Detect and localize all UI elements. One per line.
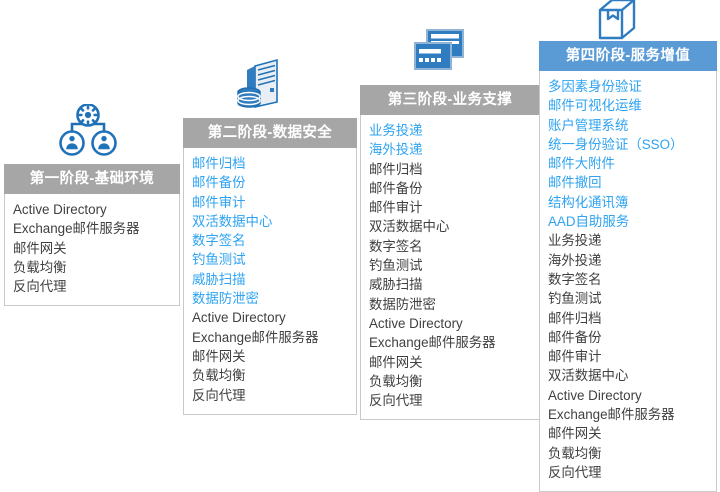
- stage-item: 负载均衡: [548, 444, 708, 463]
- stage-item: Active Directory: [192, 308, 348, 327]
- stage-item: 账户管理系统: [548, 116, 708, 135]
- stage-item: 海外投递: [548, 251, 708, 270]
- stage-panel-2: 第二阶段-数据安全 邮件归档邮件备份邮件审计双活数据中心数字签名钓鱼测试威胁扫描…: [183, 118, 357, 415]
- stage-item: 邮件审计: [369, 198, 531, 217]
- stage-item: 邮件归档: [369, 160, 531, 179]
- stage-item: 业务投递: [548, 231, 708, 250]
- stage-item: 海外投递: [369, 140, 531, 159]
- stage-item: 邮件网关: [13, 239, 171, 258]
- stage-item: 反向代理: [192, 386, 348, 405]
- stage-item: 数字签名: [192, 231, 348, 250]
- stage-item: Exchange邮件服务器: [13, 219, 171, 238]
- stage-item: 邮件网关: [369, 353, 531, 372]
- stage-item: Active Directory: [369, 314, 531, 333]
- org-hierarchy-gear-icon: [0, 104, 176, 156]
- stage-item-list-1: Active DirectoryExchange邮件服务器邮件网关负载均衡反向代…: [13, 200, 171, 296]
- stage-item: 负载均衡: [369, 372, 531, 391]
- stage-item: Exchange邮件服务器: [192, 328, 348, 347]
- stage-item: 邮件备份: [548, 328, 708, 347]
- stage-header-4: 第四阶段-服务增值: [539, 41, 717, 71]
- stage-body-1: Active DirectoryExchange邮件服务器邮件网关负载均衡反向代…: [4, 194, 180, 306]
- stage-item: 双活数据中心: [548, 366, 708, 385]
- stage-item: 邮件撤回: [548, 173, 708, 192]
- stage-item: Active Directory: [13, 200, 171, 219]
- stage-item: 邮件大附件: [548, 154, 708, 173]
- stage-item-list-3: 业务投递海外投递邮件归档邮件备份邮件审计双活数据中心数字签名钓鱼测试威胁扫描数据…: [369, 121, 531, 410]
- server-database-icon: [176, 58, 352, 110]
- stacked-windows-icon: [352, 20, 528, 76]
- stage-item: Exchange邮件服务器: [369, 333, 531, 352]
- stage-header-1: 第一阶段-基础环境: [4, 164, 180, 194]
- stage-item: 负载均衡: [192, 366, 348, 385]
- stage-item: 反向代理: [369, 391, 531, 410]
- roadmap-diagram: 第一阶段-基础环境 Active DirectoryExchange邮件服务器邮…: [0, 0, 720, 422]
- stage-item: 邮件归档: [192, 154, 348, 173]
- stage-item: 统一身份验证（SSO）: [548, 135, 708, 154]
- stage-item: 数字签名: [369, 237, 531, 256]
- stage-item: 威胁扫描: [192, 270, 348, 289]
- stage-item-list-4: 多因素身份验证邮件可视化运维账户管理系统统一身份验证（SSO）邮件大附件邮件撤回…: [548, 77, 708, 482]
- stage-item: Exchange邮件服务器: [548, 405, 708, 424]
- stage-header-2: 第二阶段-数据安全: [183, 118, 357, 148]
- stage-body-4: 多因素身份验证邮件可视化运维账户管理系统统一身份验证（SSO）邮件大附件邮件撤回…: [539, 71, 717, 492]
- stage-item: 邮件网关: [192, 347, 348, 366]
- stage-item: 反向代理: [548, 463, 708, 482]
- stage-item: 邮件审计: [548, 347, 708, 366]
- stage-item: 威胁扫描: [369, 275, 531, 294]
- stage-body-2: 邮件归档邮件备份邮件审计双活数据中心数字签名钓鱼测试威胁扫描数据防泄密Activ…: [183, 148, 357, 415]
- stage-header-3: 第三阶段-业务支撑: [360, 85, 540, 115]
- stage-item: 多因素身份验证: [548, 77, 708, 96]
- stage-item: 双活数据中心: [192, 212, 348, 231]
- stage-item: 反向代理: [13, 277, 171, 296]
- stage-item: 邮件归档: [548, 309, 708, 328]
- stage-item: 数字签名: [548, 270, 708, 289]
- stage-item: 邮件审计: [192, 193, 348, 212]
- stage-item: 数据防泄密: [192, 289, 348, 308]
- stage-item: 邮件可视化运维: [548, 96, 708, 115]
- stage-panel-1: 第一阶段-基础环境 Active DirectoryExchange邮件服务器邮…: [4, 164, 180, 306]
- stage-item: 负载均衡: [13, 258, 171, 277]
- stage-item-list-2: 邮件归档邮件备份邮件审计双活数据中心数字签名钓鱼测试威胁扫描数据防泄密Activ…: [192, 154, 348, 405]
- stage-item: AAD自助服务: [548, 212, 708, 231]
- stage-item: 邮件备份: [369, 179, 531, 198]
- stage-item: 钓鱼测试: [548, 289, 708, 308]
- stage-panel-3: 第三阶段-业务支撑 业务投递海外投递邮件归档邮件备份邮件审计双活数据中心数字签名…: [360, 85, 540, 420]
- stage-panel-4: 第四阶段-服务增值 多因素身份验证邮件可视化运维账户管理系统统一身份验证（SSO…: [539, 41, 717, 492]
- stage-item: 邮件备份: [192, 173, 348, 192]
- stage-body-3: 业务投递海外投递邮件归档邮件备份邮件审计双活数据中心数字签名钓鱼测试威胁扫描数据…: [360, 115, 540, 420]
- stage-item: 钓鱼测试: [192, 250, 348, 269]
- stage-item: Active Directory: [548, 386, 708, 405]
- stage-item: 业务投递: [369, 121, 531, 140]
- stage-item: 数据防泄密: [369, 295, 531, 314]
- stage-item: 双活数据中心: [369, 217, 531, 236]
- stage-item: 钓鱼测试: [369, 256, 531, 275]
- stage-item: 结构化通讯簿: [548, 193, 708, 212]
- stage-item: 邮件网关: [548, 424, 708, 443]
